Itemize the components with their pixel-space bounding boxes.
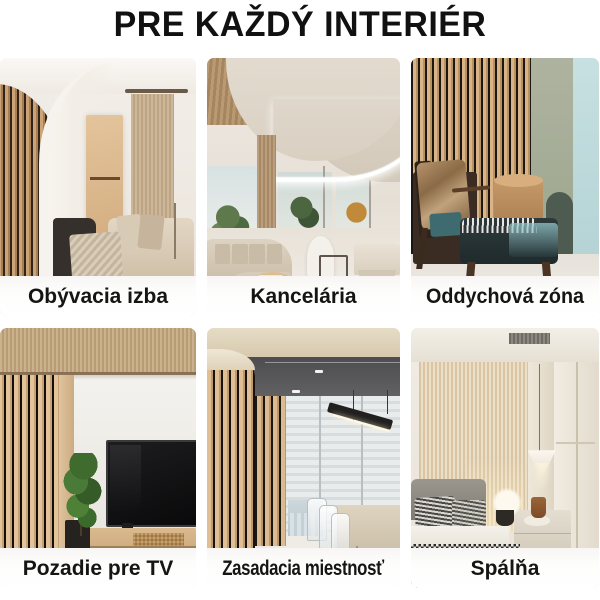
page-title: PRE KAŽDÝ INTERIÉR [9,0,591,50]
gallery-card-tv-backdrop[interactable]: Pozadie pre TV [0,328,196,588]
card-label: Spálňa [471,558,540,579]
card-label-band: Obývacia izba [0,276,196,316]
card-label-band: Pozadie pre TV [0,548,196,588]
card-label: Kancelária [250,286,356,307]
gallery-card-office[interactable]: Kancelária [207,58,400,316]
interior-gallery-grid: Obývacia izba [0,58,600,600]
gallery-card-living-room[interactable]: Obývacia izba [0,58,196,316]
promo-page: PRE KAŽDÝ INTERIÉR [0,0,600,600]
card-label-band: Kancelária [207,276,400,316]
card-label: Obývacia izba [28,286,168,307]
card-label-band: Oddychová zóna [411,276,599,316]
card-label-band: Zasadacia miestnosť [207,548,400,588]
card-label-band: Spálňa [411,548,599,588]
gallery-card-relax-zone[interactable]: Oddychová zóna [411,58,599,316]
card-label: Pozadie pre TV [23,558,174,579]
card-label: Oddychová zóna [426,286,584,307]
gallery-card-meeting-room[interactable]: Zasadacia miestnosť [207,328,400,588]
card-label: Zasadacia miestnosť [223,558,385,579]
gallery-card-bedroom[interactable]: Spálňa [411,328,599,588]
